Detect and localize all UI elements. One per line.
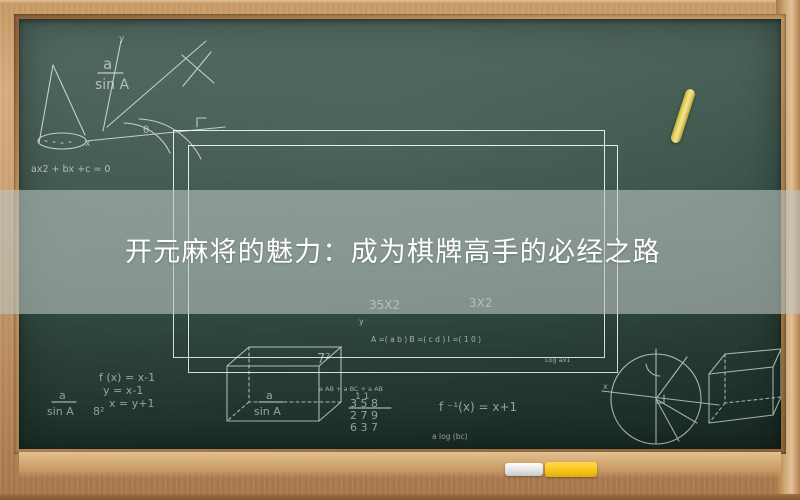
yellow-chalk-piece	[545, 462, 597, 477]
frame-bottom-shadow	[0, 494, 800, 500]
page-title-text: 开元麻将的魅力：成为棋牌高手的必经之路	[125, 239, 661, 266]
page-title: 开元麻将的魅力：成为棋牌高手的必经之路	[0, 190, 800, 314]
frame-top-highlight	[0, 0, 800, 4]
chalk-tray	[19, 452, 781, 478]
white-chalk-piece	[505, 463, 543, 476]
banner-scene: a sin A y x θ ax2 + bx +c = 0 f (x) = x-…	[0, 0, 800, 500]
